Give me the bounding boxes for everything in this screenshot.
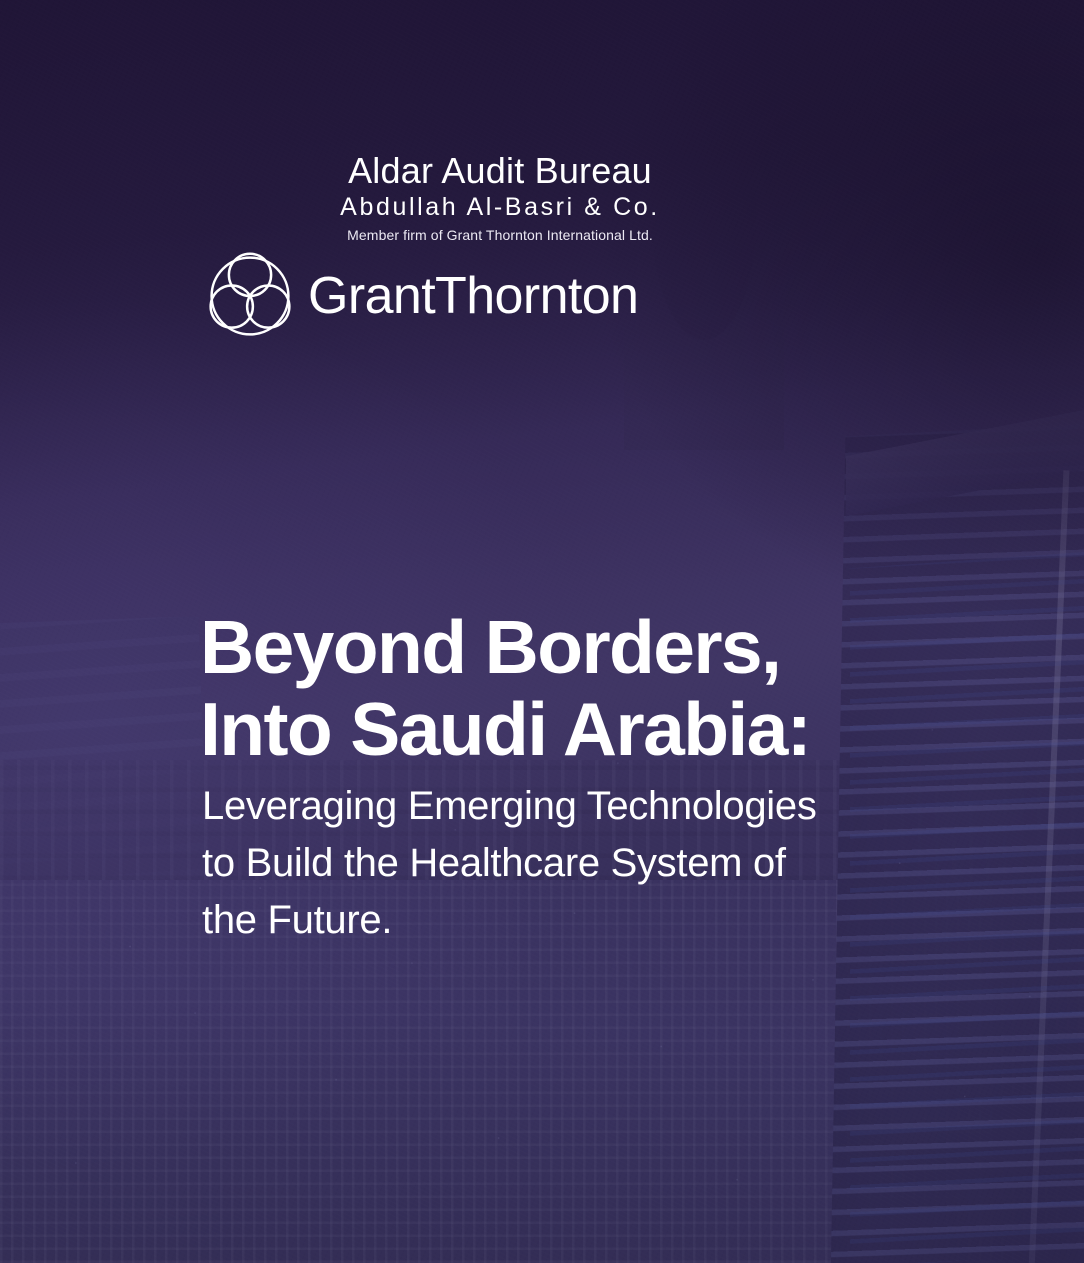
page-subtitle: Leveraging Emerging Technologies to Buil… bbox=[202, 778, 962, 948]
firm-name-block: Aldar Audit Bureau Abdullah Al-Basri & C… bbox=[310, 152, 690, 244]
firm-partners-name: Abdullah Al-Basri & Co. bbox=[310, 192, 690, 223]
page-title: Beyond Borders, Into Saudi Arabia: bbox=[200, 607, 990, 771]
firm-name: Aldar Audit Bureau bbox=[310, 152, 690, 189]
subtitle-line-1: Leveraging Emerging Technologies bbox=[202, 778, 962, 835]
grant-thornton-swirl-mark-icon bbox=[202, 248, 298, 344]
title-line-1: Beyond Borders, bbox=[200, 605, 780, 689]
title-line-2: Into Saudi Arabia: bbox=[200, 689, 990, 771]
membership-statement: Member firm of Grant Thornton Internatio… bbox=[310, 226, 690, 244]
subtitle-line-3: the Future. bbox=[202, 892, 962, 949]
grant-thornton-wordmark: GrantThornton bbox=[308, 270, 638, 322]
logo-lockup: Aldar Audit Bureau Abdullah Al-Basri & C… bbox=[202, 152, 702, 344]
grant-thornton-lockup-row: GrantThornton bbox=[202, 248, 702, 344]
report-cover-page: Aldar Audit Bureau Abdullah Al-Basri & C… bbox=[0, 0, 1084, 1263]
subtitle-line-2: to Build the Healthcare System of bbox=[202, 835, 962, 892]
